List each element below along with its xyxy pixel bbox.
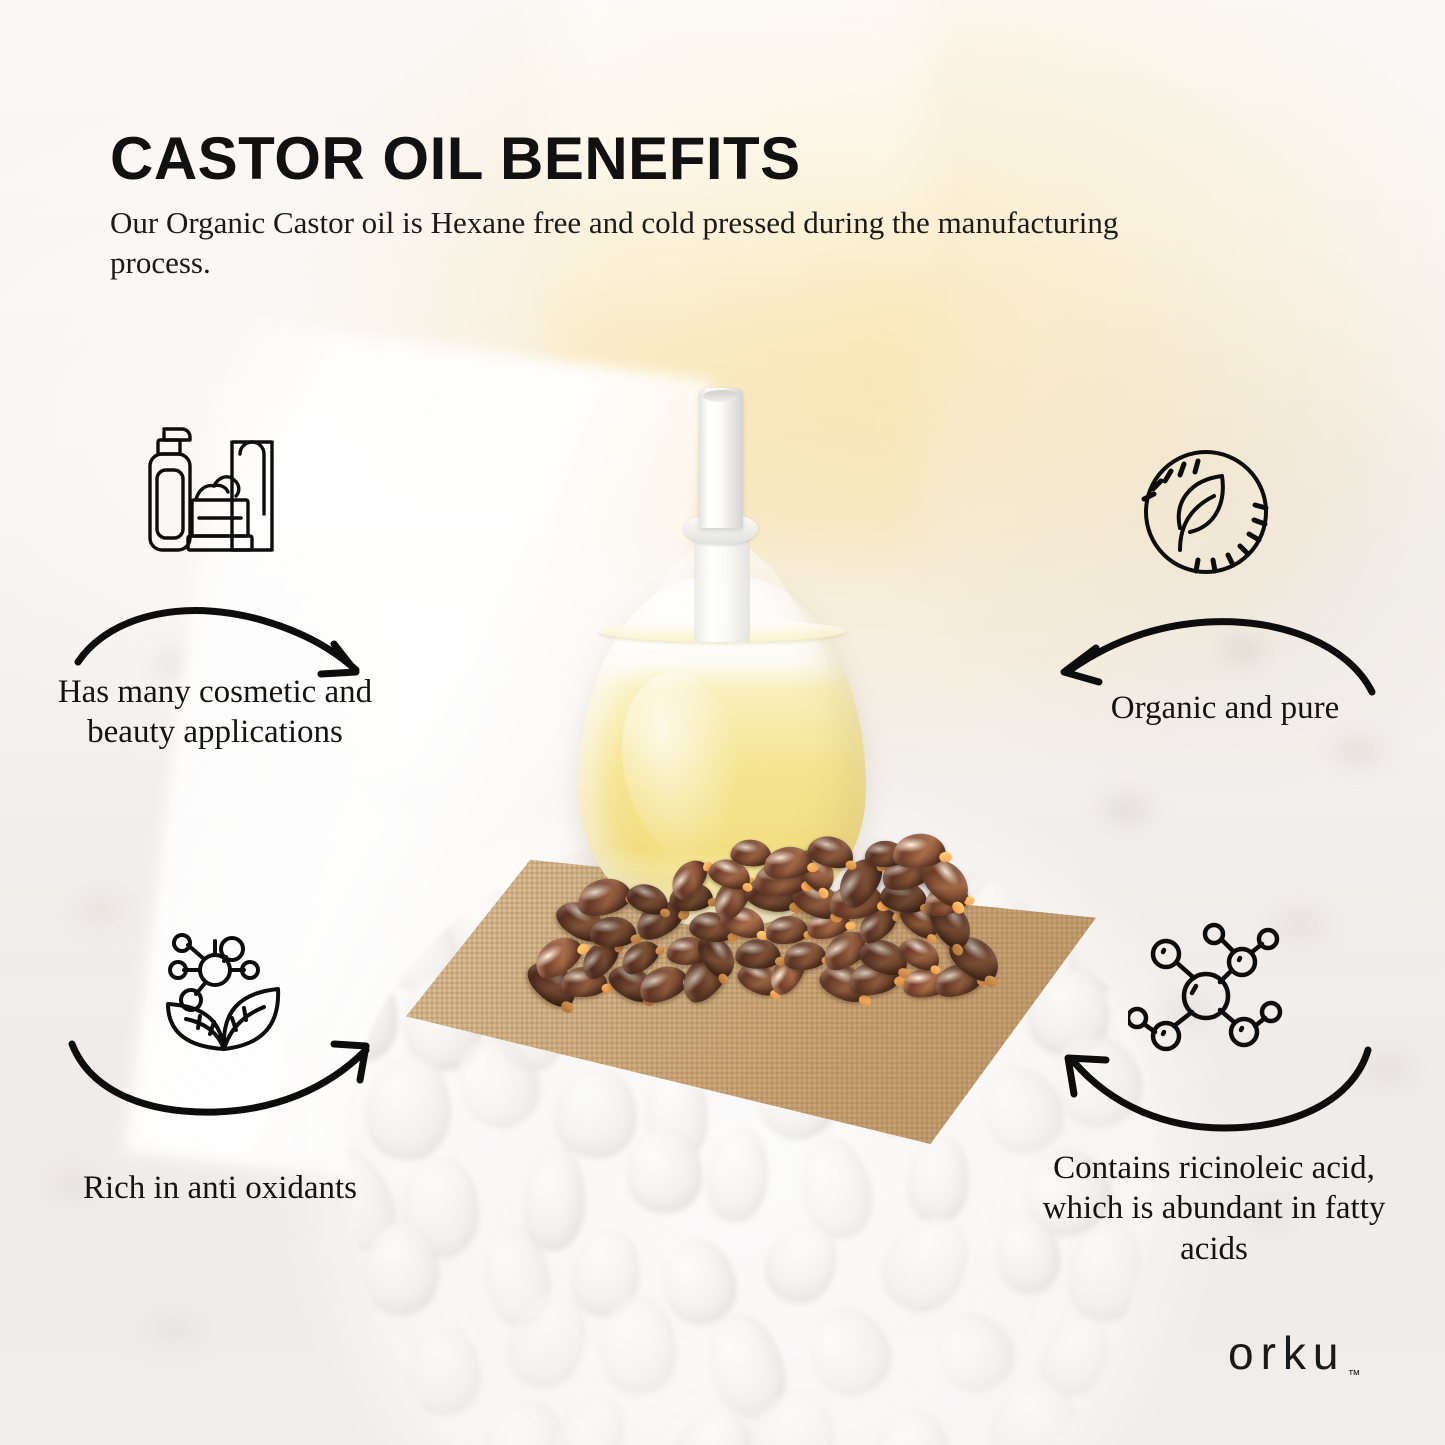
castor-seed: [623, 878, 673, 919]
castor-seed: [782, 940, 828, 973]
hero-product-image: [402, 372, 1102, 1172]
benefit-label-antioxidants: Rich in anti oxidants: [40, 1168, 400, 1208]
logo-trademark: ™: [1347, 1367, 1360, 1382]
decanter-stopper: [699, 388, 743, 528]
logo-wordmark: orku: [1228, 1327, 1345, 1379]
page-subtitle: Our Organic Castor oil is Hexane free an…: [110, 203, 1150, 282]
cosmetic-products-icon: [136, 412, 296, 562]
benefit-label-ricinoleic: Contains ricinoleic acid, which is abund…: [1034, 1148, 1394, 1269]
brand-logo[interactable]: orku™: [1228, 1330, 1360, 1381]
benefit-label-cosmetic: Has many cosmetic and beauty application…: [40, 672, 390, 753]
castor-seed-pile: [520, 842, 990, 1032]
header-block: CASTOR OIL BENEFITS Our Organic Castor o…: [110, 128, 1200, 283]
curved-arrow-up-right-icon: [66, 1028, 396, 1128]
curved-arrow-up-left-icon: [1048, 1040, 1378, 1150]
infographic-canvas: CASTOR OIL BENEFITS Our Organic Castor o…: [0, 0, 1445, 1445]
castor-seed: [736, 939, 782, 969]
benefit-label-organic: Organic and pure: [1080, 688, 1370, 728]
castor-seed: [589, 916, 637, 948]
page-title: CASTOR OIL BENEFITS: [110, 128, 1200, 189]
organic-leaf-badge-icon: [1136, 442, 1276, 582]
